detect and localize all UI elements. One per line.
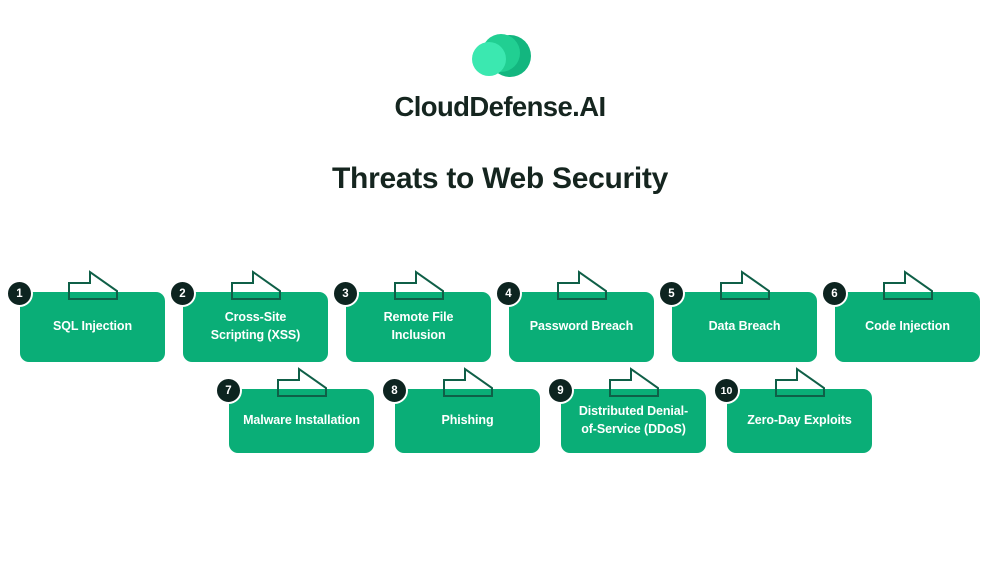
arrow-up-right-icon <box>394 270 444 300</box>
threat-card-number-badge: 5 <box>658 280 685 307</box>
arrow-up-right-icon <box>277 367 327 397</box>
threat-card-label: Password Breach <box>530 318 633 336</box>
arrow-up-right-icon <box>720 270 770 300</box>
threat-card-number-badge: 7 <box>215 377 242 404</box>
arrow-up-right-icon <box>775 367 825 397</box>
threat-card-body: Password Breach <box>509 292 654 362</box>
threat-card[interactable]: Phishing8 <box>395 389 540 453</box>
threat-card-number-badge: 10 <box>713 377 740 404</box>
threat-card-body: Code Injection <box>835 292 980 362</box>
threat-card-body: Remote File Inclusion <box>346 292 491 362</box>
threat-card[interactable]: Malware Installation7 <box>229 389 374 453</box>
arrow-up-right-icon <box>231 270 281 300</box>
arrow-up-right-icon <box>557 270 607 300</box>
threat-card-number-badge: 9 <box>547 377 574 404</box>
threat-card-label: Cross-Site Scripting (XSS) <box>211 309 300 345</box>
arrow-up-right-icon <box>609 367 659 397</box>
threat-card[interactable]: Cross-Site Scripting (XSS)2 <box>183 292 328 362</box>
threat-card[interactable]: Zero-Day Exploits10 <box>727 389 872 453</box>
threat-card-label: SQL Injection <box>53 318 132 336</box>
threat-card-body: Data Breach <box>672 292 817 362</box>
threat-card[interactable]: Code Injection6 <box>835 292 980 362</box>
threat-card[interactable]: Password Breach4 <box>509 292 654 362</box>
threat-card-number-badge: 4 <box>495 280 522 307</box>
threat-card-label: Code Injection <box>865 318 950 336</box>
arrow-up-right-icon <box>443 367 493 397</box>
arrow-up-right-icon <box>883 270 933 300</box>
threat-card-body: Cross-Site Scripting (XSS) <box>183 292 328 362</box>
threat-card[interactable]: Data Breach5 <box>672 292 817 362</box>
arrow-up-right-icon <box>68 270 118 300</box>
threat-card-body: Phishing <box>395 389 540 453</box>
threat-card-number-badge: 1 <box>6 280 33 307</box>
threat-card-label: Distributed Denial- of-Service (DDoS) <box>579 403 688 439</box>
threat-card[interactable]: SQL Injection1 <box>20 292 165 362</box>
threat-card-body: SQL Injection <box>20 292 165 362</box>
threat-card[interactable]: Distributed Denial- of-Service (DDoS)9 <box>561 389 706 453</box>
threat-card-number-badge: 3 <box>332 280 359 307</box>
threat-card-body: Distributed Denial- of-Service (DDoS) <box>561 389 706 453</box>
threat-card-board: SQL Injection1Cross-Site Scripting (XSS)… <box>0 0 1000 583</box>
threat-card-number-badge: 2 <box>169 280 196 307</box>
threat-card-label: Data Breach <box>709 318 781 336</box>
threat-card[interactable]: Remote File Inclusion3 <box>346 292 491 362</box>
threat-card-label: Malware Installation <box>243 412 360 430</box>
threat-card-label: Phishing <box>442 412 494 430</box>
threat-card-number-badge: 6 <box>821 280 848 307</box>
threat-card-number-badge: 8 <box>381 377 408 404</box>
threat-card-body: Malware Installation <box>229 389 374 453</box>
threat-card-label: Zero-Day Exploits <box>747 412 852 430</box>
threat-card-body: Zero-Day Exploits <box>727 389 872 453</box>
threat-card-label: Remote File Inclusion <box>360 309 477 345</box>
